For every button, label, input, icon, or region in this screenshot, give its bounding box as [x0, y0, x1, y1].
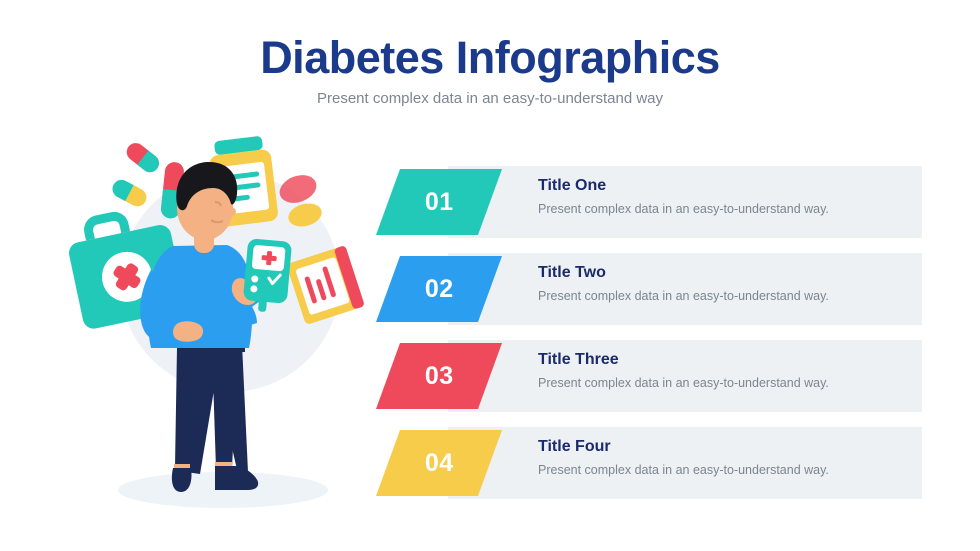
page-title: Diabetes Infographics [0, 34, 980, 81]
list-item-description: Present complex data in an easy-to-under… [538, 202, 902, 216]
list-item-text: Title One Present complex data in an eas… [538, 177, 902, 216]
list-item-number: 04 [425, 449, 454, 478]
list-item-title: Title Four [538, 438, 902, 456]
header: Diabetes Infographics Present complex da… [0, 34, 980, 107]
list-item-title: Title Three [538, 351, 902, 369]
page-subtitle: Present complex data in an easy-to-under… [0, 90, 980, 107]
infographic-slide: Diabetes Infographics Present complex da… [0, 0, 980, 551]
list-item-description: Present complex data in an easy-to-under… [538, 376, 902, 390]
list-item-number: 03 [425, 362, 454, 391]
list-item-description: Present complex data in an easy-to-under… [538, 463, 902, 477]
list-item-text: Title Four Present complex data in an ea… [538, 438, 902, 477]
list-item-text: Title Three Present complex data in an e… [538, 351, 902, 390]
list-item[interactable]: 03 Title Three Present complex data in a… [388, 340, 922, 412]
diabetes-patient-illustration [55, 132, 385, 522]
list-item-description: Present complex data in an easy-to-under… [538, 289, 902, 303]
list-item[interactable]: 02 Title Two Present complex data in an … [388, 253, 922, 325]
list-item[interactable]: 01 Title One Present complex data in an … [388, 166, 922, 238]
list-item-text: Title Two Present complex data in an eas… [538, 264, 902, 303]
list-item-number: 01 [425, 188, 454, 217]
list-item[interactable]: 04 Title Four Present complex data in an… [388, 427, 922, 499]
infographic-list: 01 Title One Present complex data in an … [388, 166, 922, 514]
list-item-title: Title One [538, 177, 902, 195]
list-item-number: 02 [425, 275, 454, 304]
list-item-title: Title Two [538, 264, 902, 282]
capsule-pills-icon [109, 139, 185, 219]
